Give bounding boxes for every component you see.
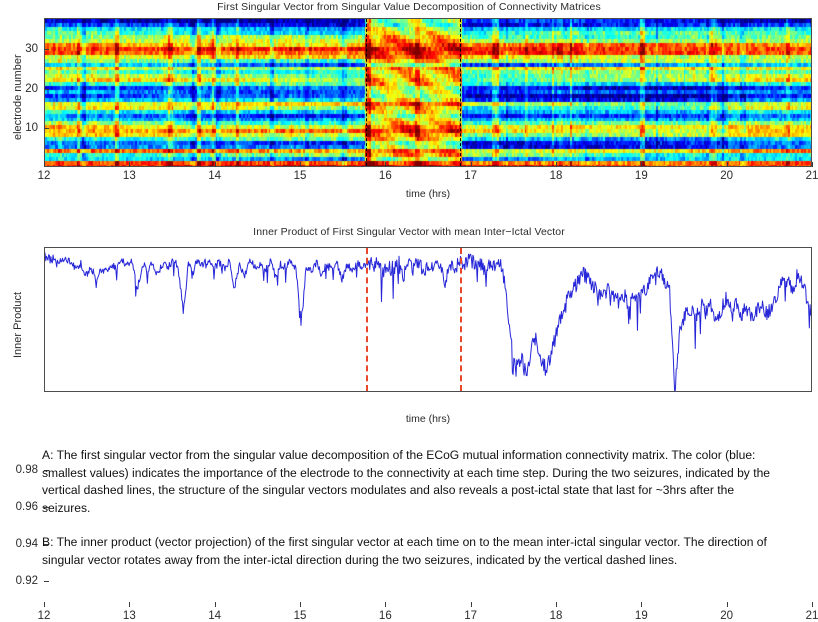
x-tick-label: 12 [38, 610, 51, 622]
x-tick-label: 15 [294, 610, 307, 622]
x-tick-mark [300, 602, 301, 607]
seizure-1-marker-a [366, 19, 367, 166]
y-tick-mark [44, 49, 49, 50]
panel-b-xlabel: time (hrs) [44, 413, 812, 425]
x-tick-label: 19 [635, 170, 648, 182]
x-tick-mark [385, 162, 386, 167]
x-tick-label: 17 [464, 610, 477, 622]
y-tick-mark [44, 581, 49, 582]
x-tick-mark [471, 162, 472, 167]
x-tick-mark [641, 162, 642, 167]
x-tick-label: 18 [550, 170, 563, 182]
x-tick-label: 18 [550, 610, 563, 622]
x-tick-mark [556, 602, 557, 607]
x-tick-label: 21 [806, 170, 818, 182]
x-tick-mark [385, 602, 386, 607]
x-tick-label: 13 [123, 170, 136, 182]
panel-a-plot-area [44, 18, 812, 167]
x-tick-mark [471, 602, 472, 607]
x-tick-mark [300, 162, 301, 167]
x-tick-mark [812, 162, 813, 167]
x-tick-mark [215, 162, 216, 167]
panel-b-title: Inner Product of First Singular Vector w… [0, 226, 818, 238]
seizure-2-marker-b [460, 248, 462, 391]
y-tick-label: 0.92 [4, 575, 38, 587]
x-tick-label: 16 [379, 610, 392, 622]
y-tick-label: 0.94 [4, 538, 38, 550]
x-tick-label: 13 [123, 610, 136, 622]
y-tick-label: 20 [4, 83, 38, 95]
y-tick-mark [44, 89, 49, 90]
x-tick-label: 14 [208, 610, 221, 622]
x-tick-label: 16 [379, 170, 392, 182]
x-tick-mark [641, 602, 642, 607]
x-tick-label: 21 [806, 610, 818, 622]
x-tick-mark [44, 162, 45, 167]
x-tick-mark [129, 162, 130, 167]
x-tick-mark [727, 162, 728, 167]
panel-b-ylabel: Inner Product [12, 292, 24, 358]
panel-a-xlabel: time (hrs) [44, 188, 812, 200]
panel-b-inner-product-plot: Inner Product of First Singular Vector w… [0, 215, 818, 425]
panel-b-plot-area [44, 247, 812, 392]
x-tick-mark [215, 602, 216, 607]
x-tick-label: 19 [635, 610, 648, 622]
x-tick-label: 20 [720, 610, 733, 622]
x-tick-mark [727, 602, 728, 607]
panel-a-svd-heatmap: First Singular Vector from Singular Valu… [0, 0, 818, 205]
inner-product-trace [45, 248, 812, 392]
x-tick-label: 17 [464, 170, 477, 182]
x-tick-label: 14 [208, 170, 221, 182]
caption-paragraph-a: A: The first singular vector from the si… [42, 447, 782, 517]
y-tick-label: 0.96 [4, 501, 38, 513]
x-tick-label: 12 [38, 170, 51, 182]
panel-a-title: First Singular Vector from Singular Valu… [0, 1, 818, 13]
x-tick-label: 20 [720, 170, 733, 182]
x-tick-mark [556, 162, 557, 167]
x-tick-label: 15 [294, 170, 307, 182]
y-tick-label: 10 [4, 122, 38, 134]
seizure-2-marker-a [460, 19, 461, 166]
y-tick-label: 0.98 [4, 464, 38, 476]
y-tick-mark [44, 128, 49, 129]
connectivity-heatmap-image [45, 19, 812, 167]
x-tick-mark [129, 602, 130, 607]
seizure-1-marker-b [366, 248, 368, 391]
x-tick-mark [44, 602, 45, 607]
y-tick-label: 30 [4, 43, 38, 55]
x-tick-mark [812, 602, 813, 607]
caption-paragraph-b: B: The inner product (vector projection)… [42, 534, 782, 569]
